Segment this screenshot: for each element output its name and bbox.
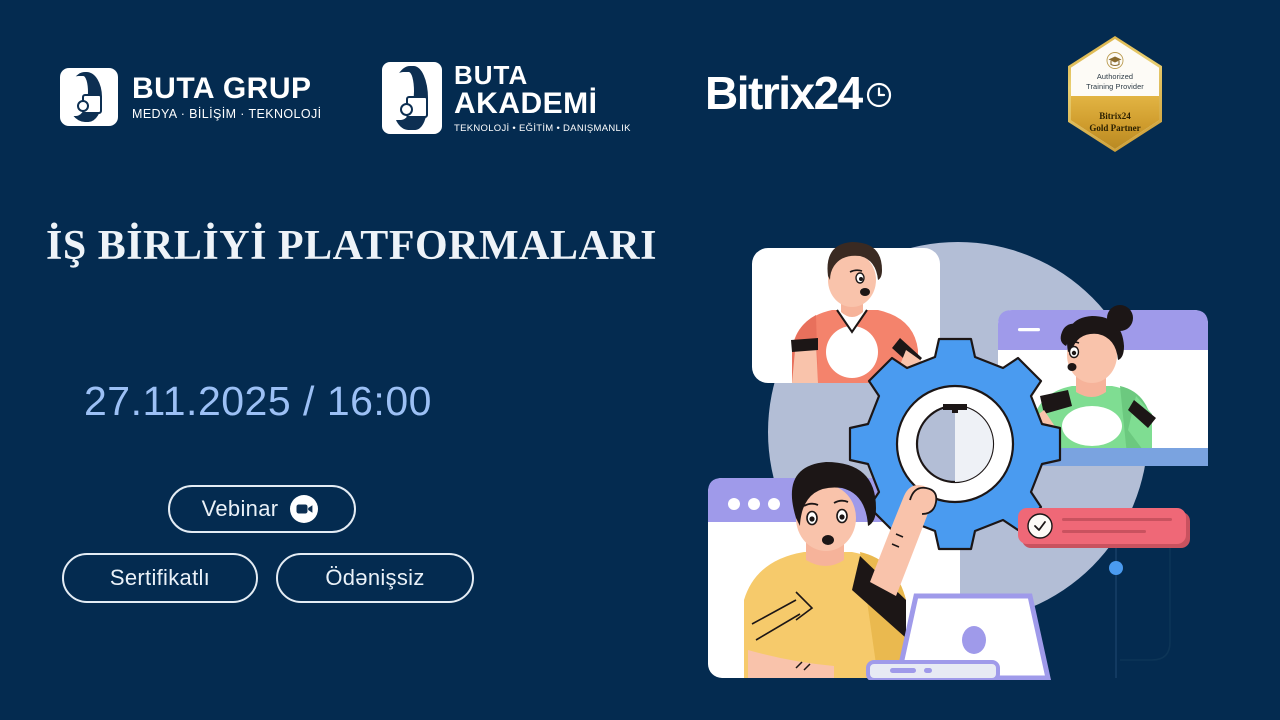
notification-card	[1018, 508, 1190, 548]
event-datetime: 27.11.2025 / 16:00	[84, 378, 432, 425]
webinar-poster: BUTA GRUP MEDYA · BİLİŞİM · TEKNOLOJİ BU…	[0, 0, 1280, 720]
team-collaboration-gear-illustration	[700, 200, 1260, 680]
tag-sertifikatli-label: Sertifikatlı	[110, 565, 210, 591]
buta-grup-name: BUTA GRUP	[132, 73, 322, 105]
buta-akademi-line1: BUTA	[454, 62, 631, 88]
tag-odenissiz[interactable]: Ödənişsiz	[276, 553, 474, 603]
gold-partner-badge: Authorized Training Provider Bitrix24 Go…	[1068, 36, 1162, 152]
buta-grup-tagline: MEDYA · BİLİŞİM · TEKNOLOJİ	[132, 107, 322, 121]
page-title: İŞ BİRLİYİ PLATFORMALARI	[46, 222, 657, 270]
logo-bitrix24: Bitrix24	[705, 70, 892, 116]
tag-sertifikatli[interactable]: Sertifikatlı	[62, 553, 258, 603]
graduation-cap-icon	[1104, 52, 1126, 69]
bitrix24-name: Bitrix24	[705, 70, 862, 116]
video-camera-icon	[290, 495, 318, 523]
buta-akademi-tagline: TEKNOLOJİ • EĞİTİM • DANIŞMANLIK	[454, 123, 631, 134]
clock-icon	[866, 82, 892, 113]
blue-dot	[1109, 561, 1123, 575]
buta-akademi-line2: AKADEMİ	[454, 88, 631, 120]
logo-buta-akademi: BUTA AKADEMİ TEKNOLOJİ • EĞİTİM • DANIŞM…	[382, 62, 631, 134]
logo-buta-grup: BUTA GRUP MEDYA · BİLİŞİM · TEKNOLOJİ	[60, 68, 322, 126]
badge-authorized-line: Authorized	[1086, 72, 1144, 82]
badge-tier: Gold Partner	[1089, 122, 1140, 134]
tag-vebinar-label: Vebinar	[202, 496, 279, 522]
logo-bar: BUTA GRUP MEDYA · BİLİŞİM · TEKNOLOJİ BU…	[0, 0, 1280, 165]
tag-vebinar[interactable]: Vebinar	[168, 485, 356, 533]
tag-odenissiz-label: Ödənişsiz	[325, 565, 424, 591]
buta-mask-puzzle-icon	[60, 68, 118, 126]
badge-training-provider-line: Training Provider	[1086, 82, 1144, 92]
badge-brand: Bitrix24	[1099, 110, 1131, 122]
buta-akademi-mask-puzzle-icon	[382, 62, 442, 134]
